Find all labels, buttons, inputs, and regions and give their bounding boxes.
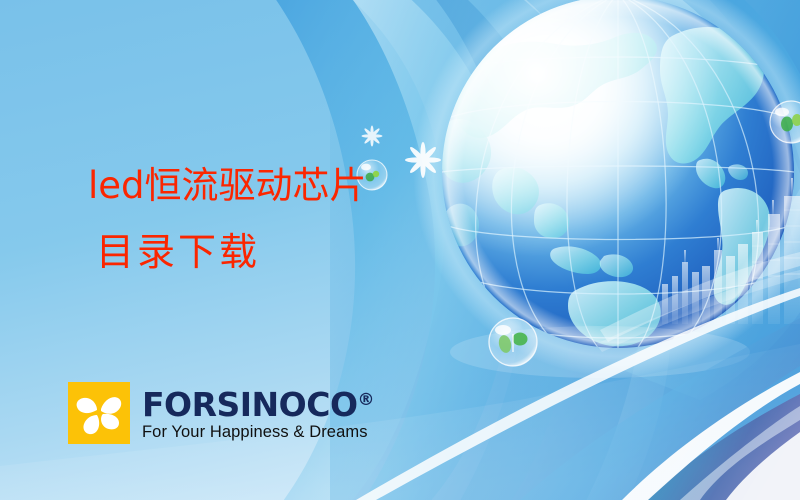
bubble-green-sprout xyxy=(489,318,537,366)
globe-longitude-lines xyxy=(476,0,759,352)
headline-line-1: led恒流驱动芯片 xyxy=(88,164,367,208)
flower-burst-left xyxy=(405,142,441,178)
pinwheel-icon xyxy=(68,382,130,444)
registered-trademark-icon: ® xyxy=(358,390,375,410)
headline-line-2: 目录下载 xyxy=(96,229,260,275)
forsinoco-pinwheel-mark xyxy=(68,382,130,444)
brand-tagline: For Your Happiness & Dreams xyxy=(142,423,375,442)
light-streak xyxy=(600,252,800,342)
bubble-right-edge xyxy=(770,101,800,143)
globe-latitude-lines xyxy=(442,57,794,338)
brand-name: FORSINOCO® xyxy=(142,383,375,422)
earth-globe-group xyxy=(413,0,800,378)
flower-burst-top xyxy=(362,126,383,147)
brand-name-text: FORSINOCO xyxy=(142,385,358,424)
company-logo: FORSINOCO® For Your Happiness & Dreams xyxy=(68,382,375,444)
logo-wordmark-block: FORSINOCO® For Your Happiness & Dreams xyxy=(142,382,375,442)
globe-continents xyxy=(439,0,795,354)
city-skyline-silhouette xyxy=(662,178,800,324)
poster-canvas: led恒流驱动芯片 目录下载 FORSINOCO® For Your Happi… xyxy=(0,0,800,500)
